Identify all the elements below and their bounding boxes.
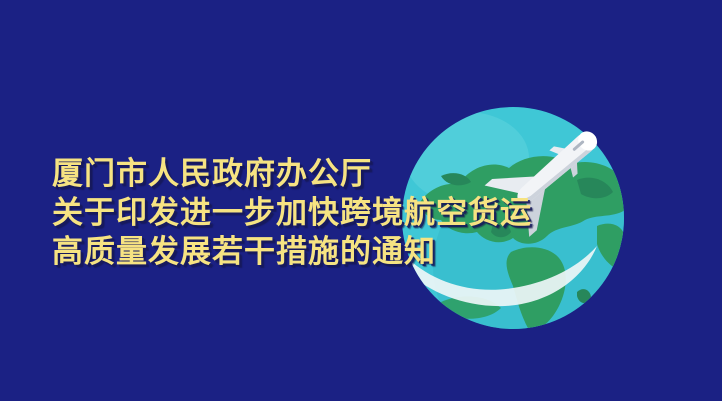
- notice-banner: 厦门市人民政府办公厅 关于印发进一步加快跨境航空货运 高质量发展若干措施的通知: [0, 0, 722, 401]
- headline-line-3: 高质量发展若干措施的通知: [52, 232, 612, 271]
- headline: 厦门市人民政府办公厅 关于印发进一步加快跨境航空货运 高质量发展若干措施的通知: [52, 154, 612, 271]
- headline-line-2: 关于印发进一步加快跨境航空货运: [52, 193, 612, 232]
- headline-line-1: 厦门市人民政府办公厅: [52, 154, 612, 193]
